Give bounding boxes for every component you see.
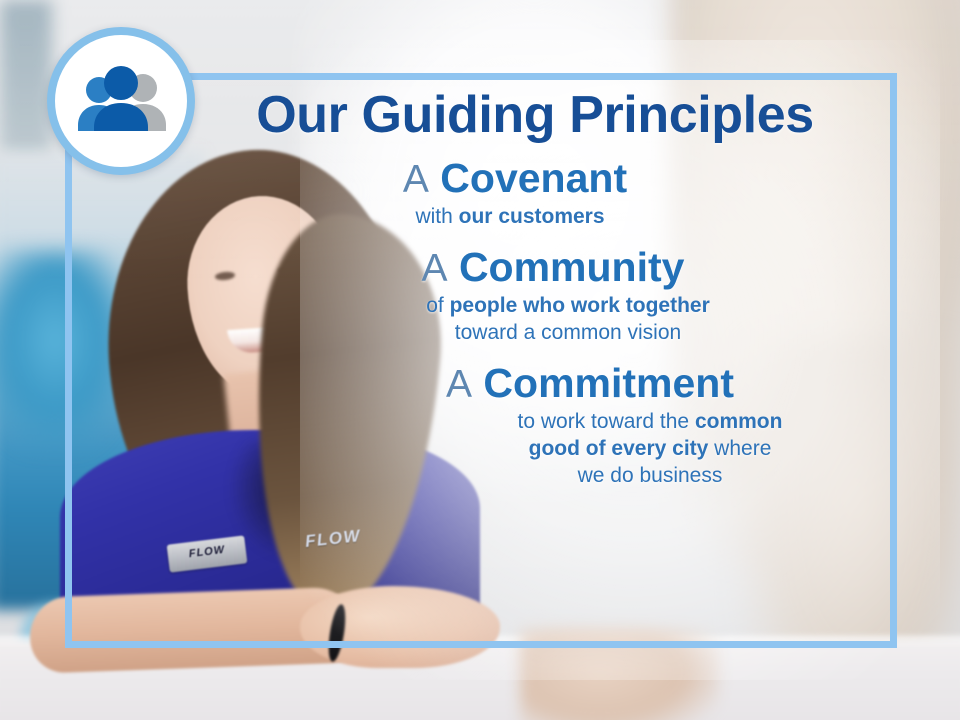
- subtext-bold: people who work together: [450, 294, 710, 317]
- subtext-plain: with: [415, 205, 458, 228]
- principle-subtext-commitment: to work toward the commongood of every c…: [300, 409, 880, 490]
- subtext-line3: we do business: [578, 464, 723, 487]
- principle-headline-commitment: A Commitment: [300, 361, 880, 406]
- people-group-icon: [69, 65, 173, 137]
- subtext-plain: to work toward the: [518, 410, 695, 433]
- principle-block-community: A Community of people who work togethert…: [190, 245, 880, 347]
- principle-keyword: Covenant: [440, 155, 627, 201]
- principle-block-covenant: A Covenant with our customers: [190, 156, 880, 231]
- principle-article: A: [422, 247, 448, 290]
- poster-canvas: FLOW FLOW Our Guiding Principles: [0, 0, 960, 720]
- subtext-bold-2: good of every city: [529, 437, 709, 460]
- principle-subtext-covenant: with our customers: [190, 204, 840, 231]
- principle-article: A: [446, 363, 472, 406]
- principle-subtext-community: of people who work togethertoward a comm…: [226, 293, 880, 347]
- people-group-badge: [47, 27, 195, 175]
- principle-headline-covenant: A Covenant: [190, 156, 840, 201]
- subtext-plain-2: where: [708, 437, 771, 460]
- page-title: Our Guiding Principles: [190, 88, 880, 142]
- principle-headline-community: A Community: [226, 245, 880, 290]
- principle-keyword: Commitment: [483, 360, 734, 406]
- subtext-bold: our customers: [459, 205, 605, 228]
- subtext-plain: of: [426, 294, 449, 317]
- subtext-line2: toward a common vision: [455, 321, 681, 344]
- principle-block-commitment: A Commitment to work toward the commongo…: [190, 361, 880, 490]
- principle-keyword: Community: [459, 244, 685, 290]
- principles-text-column: Our Guiding Principles A Covenant with o…: [190, 88, 880, 490]
- principle-article: A: [403, 158, 429, 201]
- subtext-bold: common: [695, 410, 783, 433]
